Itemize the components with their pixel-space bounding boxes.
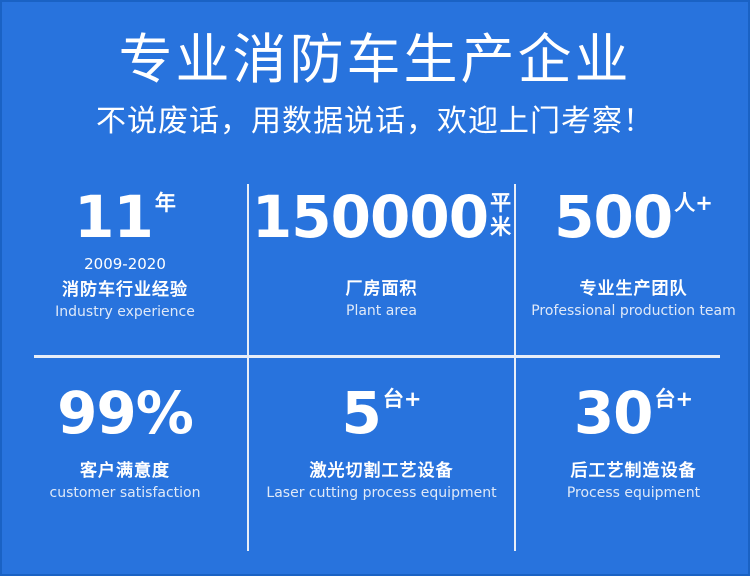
stat-cell-customer-satisfaction: 99% 客户满意度 customer satisfaction: [2, 356, 248, 552]
stat-label-cn: 激光切割工艺设备: [310, 460, 454, 482]
stat-number: 11: [74, 188, 153, 246]
stat-cell-plant-area: 150000 平 米 厂房面积 Plant area: [248, 184, 515, 356]
page-title: 专业消防车生产企业: [2, 28, 748, 92]
grid-divider-horizontal: [34, 355, 720, 358]
stat-suffix-line-1: 平: [490, 191, 511, 215]
stat-number: 5: [342, 384, 381, 442]
stat-number: 99%: [57, 384, 193, 442]
stat-number-line: 500 人+: [554, 188, 713, 250]
stat-label-en: Professional production team: [531, 302, 736, 320]
stats-grid: 11 年 2009-2020 消防车行业经验 Industry experien…: [2, 184, 748, 552]
stat-year-range: 2009-2020: [84, 255, 166, 273]
grid-divider-vertical-2: [514, 184, 516, 551]
stat-suffix: 台+: [653, 384, 694, 410]
stat-number-line: 11 年: [74, 188, 176, 250]
stat-label-cn: 后工艺制造设备: [571, 460, 697, 482]
stat-number: 150000: [252, 188, 488, 246]
stat-label-en: Plant area: [346, 302, 417, 320]
stat-label-cn: 消防车行业经验: [62, 279, 188, 301]
stat-number: 30: [574, 384, 653, 442]
stat-cell-industry-experience: 11 年 2009-2020 消防车行业经验 Industry experien…: [2, 184, 248, 356]
stat-label-en: Laser cutting process equipment: [266, 484, 496, 502]
stat-suffix: 年: [153, 188, 176, 214]
stat-label-en: Process equipment: [567, 484, 700, 502]
stat-number: 500: [554, 188, 672, 246]
promo-banner: 专业消防车生产企业 不说废话，用数据说话，欢迎上门考察！ 11 年 2009-2…: [2, 2, 748, 574]
banner-header: 专业消防车生产企业 不说废话，用数据说话，欢迎上门考察！: [2, 28, 748, 144]
stat-suffix: 台+: [381, 384, 422, 410]
stat-number-line: 150000 平 米: [252, 188, 511, 250]
stat-suffix: 人+: [672, 188, 713, 214]
stat-cell-laser-cutting-equipment: 5 台+ 激光切割工艺设备 Laser cutting process equi…: [248, 356, 515, 552]
stat-label-cn: 专业生产团队: [580, 278, 688, 300]
stat-suffix: 平 米: [488, 188, 511, 239]
page-subtitle: 不说废话，用数据说话，欢迎上门考察！: [2, 100, 748, 144]
stat-label-en: customer satisfaction: [50, 484, 201, 502]
stat-number-line: 30 台+: [574, 384, 693, 446]
stat-number-line: 5 台+: [342, 384, 422, 446]
stat-number-line: 99%: [57, 384, 193, 446]
grid-divider-vertical-1: [247, 184, 249, 551]
stat-label-cn: 客户满意度: [80, 460, 170, 482]
stat-cell-production-team: 500 人+ 专业生产团队 Professional production te…: [515, 184, 750, 356]
stat-label-en: Industry experience: [55, 303, 195, 321]
stat-label-cn: 厂房面积: [346, 278, 418, 300]
stat-cell-process-equipment: 30 台+ 后工艺制造设备 Process equipment: [515, 356, 750, 552]
stat-suffix-line-2: 米: [490, 215, 511, 239]
